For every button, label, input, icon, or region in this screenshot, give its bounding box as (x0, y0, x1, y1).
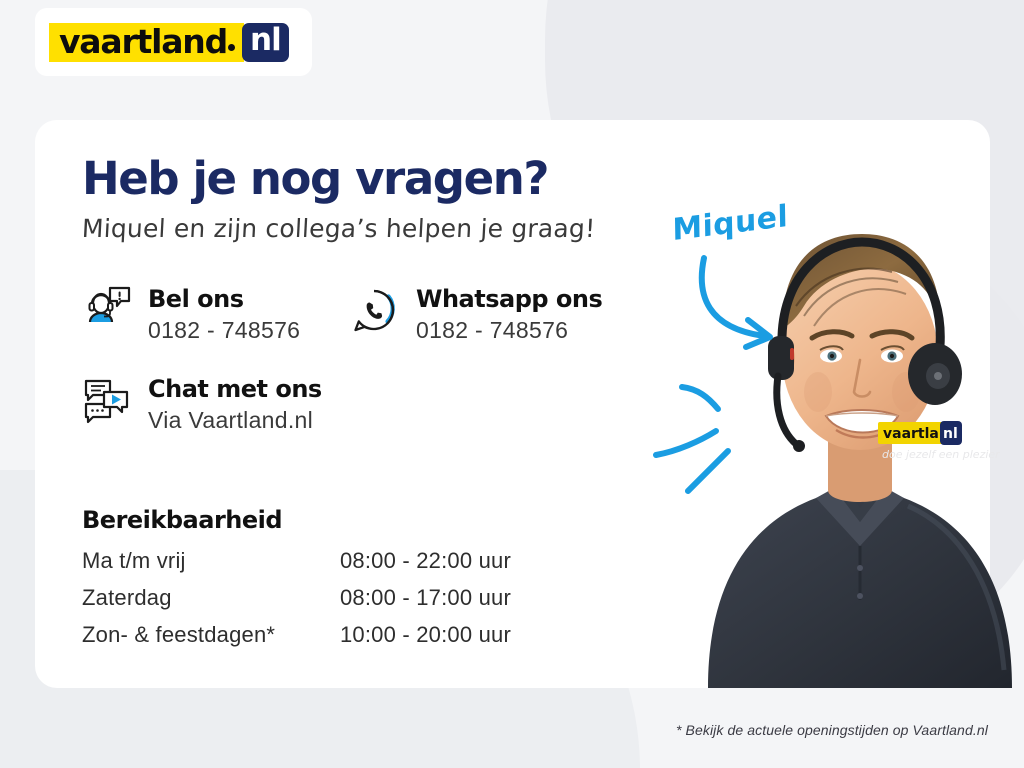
table-row: Zaterdag 08:00 - 17:00 uur (82, 585, 511, 622)
person-headset-icon (80, 284, 132, 336)
hours-heading: Bereikbaarheid (82, 506, 282, 534)
contact-phone-whatsapp: 0182 - 748576 (416, 317, 602, 344)
contact-text-call: Bel ons 0182 - 748576 (148, 284, 300, 344)
chat-bubbles-icon (80, 374, 132, 426)
logo-mark: vaartland nl (49, 23, 289, 62)
hours-day: Ma t/m vrij (82, 548, 340, 585)
emphasis-strokes-icon (650, 365, 770, 495)
page-subtitle: Miquel en zijn collega’s helpen je graag… (81, 214, 596, 243)
contact-title-whatsapp: Whatsapp ons (416, 286, 602, 314)
svg-text:doe jezelf een plezier: doe jezelf een plezier (882, 448, 1001, 461)
contact-title-call: Bel ons (148, 286, 300, 314)
contact-banner: vaartland nl Heb je nog vragen? Miquel e… (0, 0, 1024, 768)
footnote-text: * Bekijk de actuele openingstijden op Va… (676, 722, 988, 738)
hours-day: Zaterdag (82, 585, 340, 622)
hours-time: 08:00 - 17:00 uur (340, 585, 511, 622)
table-row: Ma t/m vrij 08:00 - 22:00 uur (82, 548, 511, 585)
contact-block-chat[interactable]: Chat met ons Via Vaartland.nl (80, 374, 322, 434)
table-row: Zon- & feestdagen* 10:00 - 20:00 uur (82, 622, 511, 659)
contact-text-whatsapp: Whatsapp ons 0182 - 748576 (416, 284, 602, 344)
contact-phone-call: 0182 - 748576 (148, 317, 300, 344)
contact-title-chat: Chat met ons (148, 376, 322, 404)
hours-time: 08:00 - 22:00 uur (340, 548, 511, 585)
hours-day: Zon- & feestdagen* (82, 622, 340, 659)
svg-text:nl: nl (943, 426, 958, 442)
contact-block-call[interactable]: Bel ons 0182 - 748576 (80, 284, 300, 344)
logo-yellow-block: vaartland (49, 23, 244, 62)
whatsapp-icon (348, 284, 400, 336)
logo-dot-icon (228, 44, 235, 51)
opening-hours-table: Ma t/m vrij 08:00 - 22:00 uur Zaterdag 0… (82, 548, 511, 659)
page-title: Heb je nog vragen? (82, 152, 548, 205)
logo-wordmark: vaartland (59, 25, 227, 58)
logo-navy-block: nl (242, 23, 289, 62)
logo-tld: nl (250, 25, 281, 56)
contact-link-chat: Via Vaartland.nl (148, 407, 322, 434)
curved-arrow-icon (690, 252, 800, 362)
contact-block-whatsapp[interactable]: Whatsapp ons 0182 - 748576 (348, 284, 602, 344)
contact-text-chat: Chat met ons Via Vaartland.nl (148, 374, 322, 434)
hours-time: 10:00 - 20:00 uur (340, 622, 511, 659)
brand-logo[interactable]: vaartland nl (35, 8, 312, 76)
